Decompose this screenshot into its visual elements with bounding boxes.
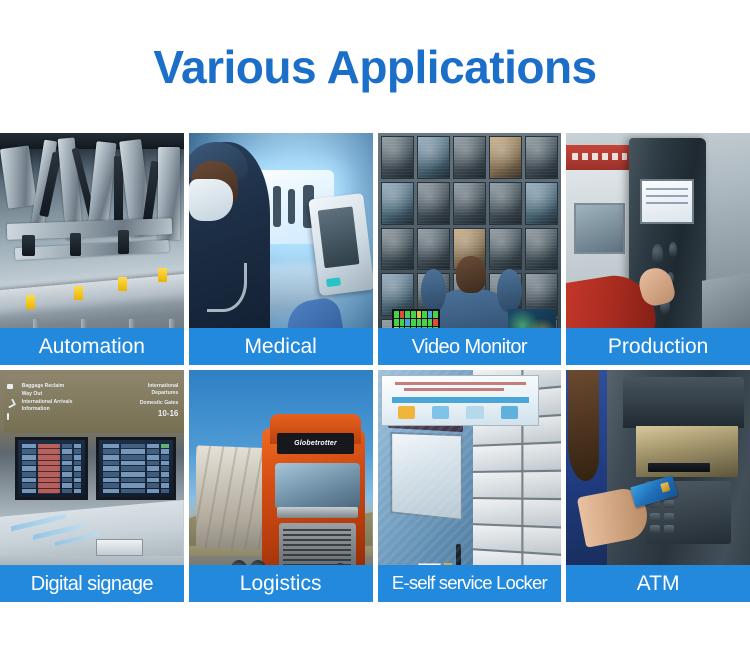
flight-board-arrivals [15,437,89,500]
factory-banner [566,145,632,171]
tile-caption-automation: Automation [0,328,184,365]
sign-line-baggage: Baggage Reclaim [22,383,73,391]
applications-page: Various Applications [0,0,750,657]
locker-instruction-poster [381,375,539,426]
tile-production[interactable]: Production [566,133,750,365]
tile-e-self-service-locker[interactable]: E-self service Locker [378,370,562,602]
flight-board-departures [96,437,177,500]
tile-digital-signage[interactable]: Baggage Reclaim Way Out International Ar… [0,370,184,602]
tile-caption-digital-signage: Digital signage [0,565,184,602]
overhead-directional-sign: Baggage Reclaim Way Out International Ar… [4,375,184,433]
tile-automation[interactable]: Automation [0,133,184,365]
sign-gate-range: 10-16 [140,408,179,420]
tile-atm[interactable]: ATM [566,370,750,602]
tile-medical[interactable]: Medical [189,133,373,365]
tile-caption-logistics: Logistics [189,565,373,602]
page-header: Various Applications [0,0,750,133]
tile-caption-production: Production [566,328,750,365]
sign-line-wayout: Way Out [22,391,73,399]
hanging-sign [96,539,144,555]
tile-video-monitor[interactable]: Video Monitor [378,133,562,365]
sign-line-domestic-gates: Domestic Gates [140,400,179,408]
page-title: Various Applications [153,44,596,90]
sign-line-information: Information [22,406,73,414]
sign-line-international: International [140,383,179,391]
locker-touchscreen[interactable] [390,431,462,520]
truck-brand-label: Globetrotter [277,433,354,454]
applications-grid: Automation [0,133,750,602]
tile-caption-medical: Medical [189,328,373,365]
machine-screen [640,179,694,224]
tile-caption-e-self-service-locker: E-self service Locker [378,565,562,602]
atm-card-slot [648,463,710,472]
tile-caption-atm: ATM [566,565,750,602]
tile-caption-video-monitor: Video Monitor [378,328,562,365]
sign-line-departures: Departures [140,390,179,398]
patient-monitor [308,193,373,296]
sign-line-arrivals: International Arrivals [22,399,73,407]
card-chip-icon [661,483,671,494]
tile-logistics[interactable]: Globetrotter Logistics [189,370,373,602]
